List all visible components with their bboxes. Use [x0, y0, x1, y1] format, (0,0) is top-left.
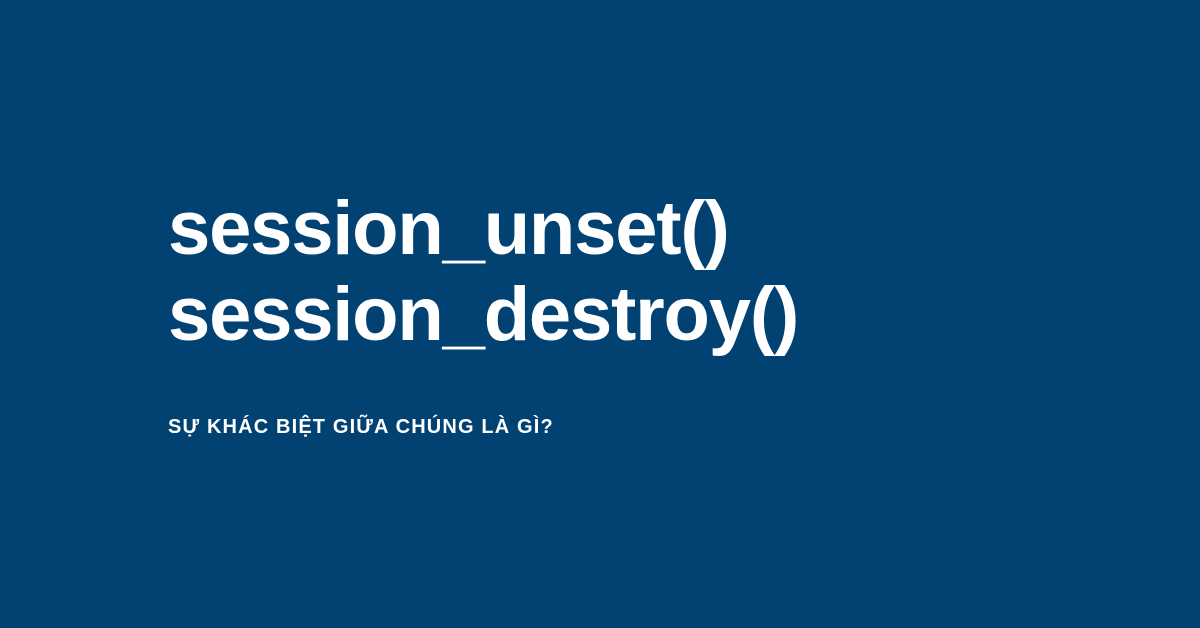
- hero-content: session_unset() session_destroy() SỰ KHÁ…: [168, 186, 1128, 358]
- hero-title-line-1: session_unset(): [168, 186, 1128, 272]
- hero-banner: session_unset() session_destroy() SỰ KHÁ…: [0, 0, 1200, 628]
- hero-subtitle: SỰ KHÁC BIỆT GIỮA CHÚNG LÀ GÌ?: [168, 414, 554, 440]
- hero-title: session_unset() session_destroy(): [168, 186, 1128, 358]
- hero-title-line-2: session_destroy(): [168, 272, 1128, 358]
